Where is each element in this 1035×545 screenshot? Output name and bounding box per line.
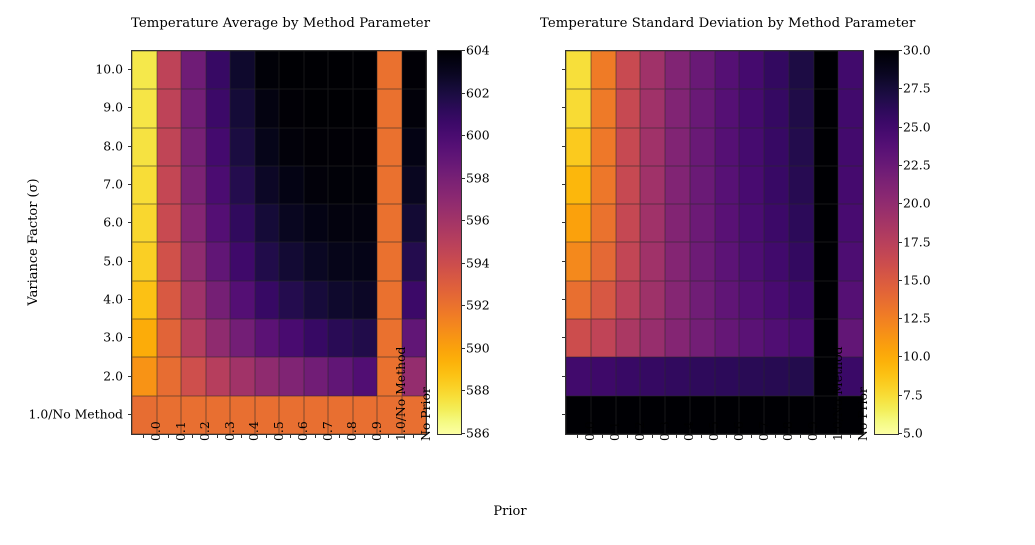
heatmap-cell[interactable]: [739, 242, 764, 280]
heatmap-cell[interactable]: [814, 128, 839, 166]
heatmap-cell[interactable]: [591, 204, 616, 242]
colorbar-tick-mark: [898, 88, 902, 89]
colorbar-tick-label: 27.5: [903, 81, 931, 96]
colorbar-tick-mark: [898, 242, 902, 243]
heatmap-cell[interactable]: [715, 204, 740, 242]
heatmap-cell[interactable]: [690, 319, 715, 357]
heatmap-cell[interactable]: [690, 128, 715, 166]
heatmap-cell[interactable]: [616, 166, 641, 204]
colorbar[interactable]: [874, 50, 899, 435]
heatmap-cell[interactable]: [739, 128, 764, 166]
heatmap-cell[interactable]: [764, 242, 789, 280]
heatmap-cell[interactable]: [764, 281, 789, 319]
heatmap-cell[interactable]: [814, 242, 839, 280]
x-tick-mark: [602, 434, 603, 438]
heatmap-cell[interactable]: [640, 51, 665, 89]
heatmap-cell[interactable]: [789, 166, 814, 204]
heatmap-cell[interactable]: [838, 281, 863, 319]
chart-panel-2: Temperature Standard Deviation by Method…: [0, 0, 1035, 545]
heatmap-cell[interactable]: [715, 128, 740, 166]
heatmap-cell[interactable]: [591, 357, 616, 395]
heatmap-cell[interactable]: [665, 51, 690, 89]
heatmap-cell[interactable]: [566, 89, 591, 127]
heatmap-cell[interactable]: [665, 204, 690, 242]
heatmap-cell[interactable]: [591, 89, 616, 127]
colorbar-tick-label: 10.0: [903, 349, 931, 364]
y-tick-mark: [562, 107, 566, 108]
x-tick-mark: [850, 434, 851, 438]
x-tick-mark: [775, 434, 776, 438]
heatmap-cell[interactable]: [739, 357, 764, 395]
heatmap-cell[interactable]: [739, 281, 764, 319]
heatmap-cell[interactable]: [789, 357, 814, 395]
x-tick-mark: [577, 434, 578, 438]
heatmap-cell[interactable]: [814, 89, 839, 127]
x-tick-mark: [825, 434, 826, 438]
heatmap-cell[interactable]: [715, 242, 740, 280]
heatmap-cell[interactable]: [616, 357, 641, 395]
x-tick-mark: [800, 434, 801, 438]
x-tick-label: 0.2: [632, 421, 647, 441]
heatmap-cell[interactable]: [715, 357, 740, 395]
heatmap-cell[interactable]: [739, 319, 764, 357]
heatmap-cell[interactable]: [789, 242, 814, 280]
heatmap-cell[interactable]: [640, 204, 665, 242]
heatmap-cell[interactable]: [838, 204, 863, 242]
heatmap-cell[interactable]: [764, 51, 789, 89]
heatmap-cell[interactable]: [739, 166, 764, 204]
heatmap-cell[interactable]: [591, 51, 616, 89]
x-tick-label: 0.5: [706, 421, 721, 441]
heatmap-cell[interactable]: [838, 166, 863, 204]
heatmap-cell[interactable]: [715, 319, 740, 357]
y-tick-mark: [562, 337, 566, 338]
heatmap-cell[interactable]: [591, 166, 616, 204]
heatmap-grid: [566, 51, 863, 434]
heatmap-cell[interactable]: [690, 166, 715, 204]
heatmap-cell[interactable]: [616, 242, 641, 280]
heatmap-cell[interactable]: [739, 89, 764, 127]
heatmap-cell[interactable]: [665, 281, 690, 319]
heatmap-cell[interactable]: [566, 281, 591, 319]
heatmap-cell[interactable]: [814, 204, 839, 242]
heatmap-cell[interactable]: [665, 242, 690, 280]
x-axis-title: Prior: [440, 504, 580, 519]
heatmap-cell[interactable]: [665, 319, 690, 357]
heatmap-cell[interactable]: [665, 357, 690, 395]
y-tick-mark: [562, 222, 566, 223]
heatmap-cell[interactable]: [838, 51, 863, 89]
heatmap-cell[interactable]: [591, 242, 616, 280]
x-tick-label: 0.9: [805, 421, 820, 441]
heatmap-cell[interactable]: [566, 204, 591, 242]
heatmap-cell[interactable]: [789, 89, 814, 127]
heatmap-cell[interactable]: [616, 51, 641, 89]
heatmap-cell[interactable]: [690, 242, 715, 280]
colorbar-tick-label: 25.0: [903, 119, 931, 134]
heatmap-cell[interactable]: [616, 89, 641, 127]
colorbar-tick-label: 12.5: [903, 311, 931, 326]
colorbar-tick-mark: [898, 395, 902, 396]
heatmap-cell[interactable]: [838, 128, 863, 166]
heatmap-cell[interactable]: [715, 281, 740, 319]
figure-root: Temperature Average by Method Parameter1…: [0, 0, 1035, 545]
heatmap-cell[interactable]: [665, 128, 690, 166]
heatmap-cell[interactable]: [814, 281, 839, 319]
heatmap-cell[interactable]: [715, 89, 740, 127]
x-tick-mark: [751, 434, 752, 438]
y-tick-mark: [562, 414, 566, 415]
heatmap-cell[interactable]: [764, 357, 789, 395]
heatmap-cell[interactable]: [789, 281, 814, 319]
heatmap-cell[interactable]: [814, 51, 839, 89]
heatmap-cell[interactable]: [616, 281, 641, 319]
y-tick-mark: [562, 184, 566, 185]
heatmap-cell[interactable]: [616, 319, 641, 357]
x-tick-label: 0.0: [582, 421, 597, 441]
heatmap-cell[interactable]: [789, 204, 814, 242]
colorbar-tick-mark: [898, 203, 902, 204]
heatmap-cell[interactable]: [690, 357, 715, 395]
heatmap-cell[interactable]: [690, 281, 715, 319]
heatmap-cell[interactable]: [789, 128, 814, 166]
colorbar-tick-label: 7.5: [903, 387, 923, 402]
colorbar-tick-label: 15.0: [903, 272, 931, 287]
heatmap-cell[interactable]: [789, 51, 814, 89]
heatmap-cell[interactable]: [764, 166, 789, 204]
colorbar-tick-mark: [898, 165, 902, 166]
heatmap-plot-area[interactable]: [565, 50, 864, 435]
y-tick-mark: [562, 299, 566, 300]
x-tick-label: 0.8: [780, 421, 795, 441]
heatmap-cell[interactable]: [739, 204, 764, 242]
heatmap-cell[interactable]: [640, 166, 665, 204]
panel-title: Temperature Standard Deviation by Method…: [540, 16, 890, 31]
heatmap-cell[interactable]: [838, 89, 863, 127]
colorbar-tick-mark: [898, 127, 902, 128]
heatmap-cell[interactable]: [566, 319, 591, 357]
heatmap-cell[interactable]: [566, 51, 591, 89]
heatmap-cell[interactable]: [640, 242, 665, 280]
colorbar-tick-mark: [898, 433, 902, 434]
x-tick-label: 1.0/No Method: [830, 347, 845, 442]
colorbar-tick-label: 5.0: [903, 426, 923, 441]
colorbar-tick-label: 30.0: [903, 43, 931, 58]
heatmap-cell[interactable]: [739, 51, 764, 89]
y-tick-mark: [562, 146, 566, 147]
heatmap-cell[interactable]: [566, 128, 591, 166]
heatmap-cell[interactable]: [566, 242, 591, 280]
heatmap-cell[interactable]: [838, 242, 863, 280]
heatmap-cell[interactable]: [715, 166, 740, 204]
x-tick-label: No Prior: [855, 387, 870, 441]
x-tick-label: 0.7: [756, 421, 771, 441]
y-tick-mark: [562, 376, 566, 377]
colorbar-tick-label: 22.5: [903, 157, 931, 172]
heatmap-cell[interactable]: [789, 319, 814, 357]
y-tick-mark: [562, 69, 566, 70]
x-tick-mark: [726, 434, 727, 438]
x-tick-mark: [652, 434, 653, 438]
x-tick-label: 0.4: [681, 421, 696, 441]
x-tick-mark: [701, 434, 702, 438]
heatmap-cell[interactable]: [715, 51, 740, 89]
heatmap-cell[interactable]: [764, 89, 789, 127]
heatmap-cell[interactable]: [764, 204, 789, 242]
heatmap-cell[interactable]: [640, 128, 665, 166]
heatmap-cell[interactable]: [591, 281, 616, 319]
colorbar-tick-mark: [898, 50, 902, 51]
x-tick-label: 0.1: [607, 421, 622, 441]
colorbar-tick-mark: [898, 318, 902, 319]
colorbar-tick-mark: [898, 280, 902, 281]
heatmap-cell[interactable]: [764, 128, 789, 166]
heatmap-cell[interactable]: [665, 166, 690, 204]
heatmap-cell[interactable]: [814, 166, 839, 204]
heatmap-cell[interactable]: [640, 357, 665, 395]
x-tick-label: 0.6: [731, 421, 746, 441]
heatmap-cell[interactable]: [690, 51, 715, 89]
colorbar-tick-label: 20.0: [903, 196, 931, 211]
heatmap-cell[interactable]: [665, 89, 690, 127]
heatmap-cell[interactable]: [616, 204, 641, 242]
heatmap-cell[interactable]: [690, 89, 715, 127]
heatmap-cell[interactable]: [591, 319, 616, 357]
x-tick-label: 0.3: [657, 421, 672, 441]
y-tick-mark: [562, 261, 566, 262]
heatmap-cell[interactable]: [591, 128, 616, 166]
heatmap-cell[interactable]: [566, 357, 591, 395]
x-tick-mark: [676, 434, 677, 438]
heatmap-cell[interactable]: [640, 319, 665, 357]
x-tick-mark: [627, 434, 628, 438]
heatmap-cell[interactable]: [764, 319, 789, 357]
colorbar-tick-mark: [898, 356, 902, 357]
heatmap-cell[interactable]: [566, 166, 591, 204]
heatmap-cell[interactable]: [640, 281, 665, 319]
heatmap-cell[interactable]: [690, 204, 715, 242]
heatmap-cell[interactable]: [616, 128, 641, 166]
colorbar-tick-label: 17.5: [903, 234, 931, 249]
heatmap-cell[interactable]: [640, 89, 665, 127]
